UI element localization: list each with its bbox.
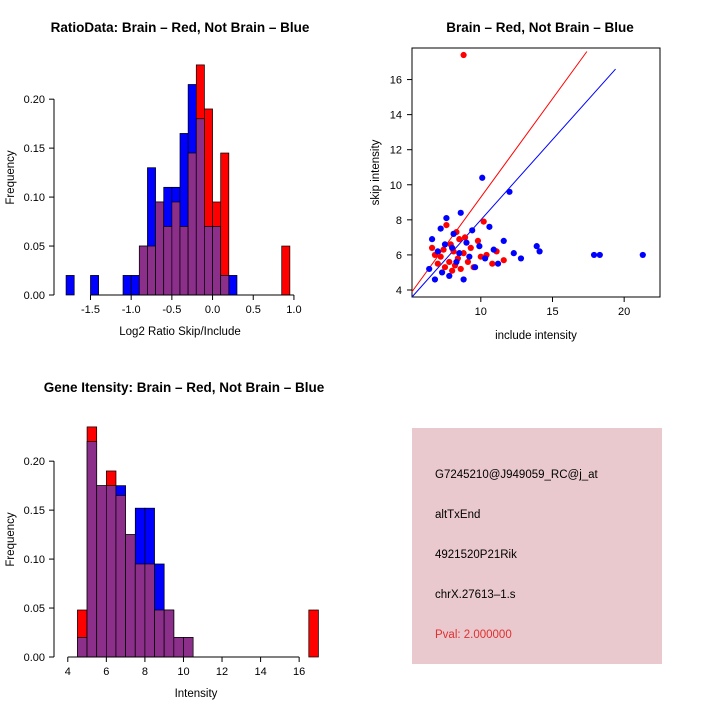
svg-text:0.05: 0.05 — [24, 603, 45, 615]
svg-text:0.15: 0.15 — [24, 143, 45, 155]
svg-text:10: 10 — [475, 306, 487, 318]
svg-text:0.20: 0.20 — [24, 94, 45, 106]
svg-text:16: 16 — [390, 75, 402, 87]
info-event-type: altTxEnd — [435, 509, 480, 521]
svg-text:16: 16 — [293, 666, 305, 678]
svg-text:14: 14 — [254, 666, 266, 678]
svg-text:-1.5: -1.5 — [81, 304, 100, 316]
svg-text:Frequency: Frequency — [5, 512, 17, 567]
svg-text:0.0: 0.0 — [205, 304, 220, 316]
panel-gene-title: Gene Itensity: Brain – Red, Not Brain – … — [4, 380, 364, 395]
svg-text:8: 8 — [396, 215, 402, 227]
svg-text:0.15: 0.15 — [24, 505, 45, 517]
panel-scatter: Brain – Red, Not Brain – Blue 1015204681… — [360, 0, 720, 360]
svg-text:8: 8 — [142, 666, 148, 678]
svg-text:-1.0: -1.0 — [122, 304, 141, 316]
figure-canvas: RatioData: Brain – Red, Not Brain – Blue… — [0, 0, 720, 720]
panel-scatter-title: Brain – Red, Not Brain – Blue — [360, 20, 720, 35]
svg-text:0.00: 0.00 — [24, 652, 45, 664]
info-box: G7245210@J949059_RC@j_at altTxEnd 492152… — [412, 428, 662, 664]
svg-text:0.05: 0.05 — [24, 241, 45, 253]
svg-text:0.20: 0.20 — [24, 456, 45, 468]
svg-text:0.10: 0.10 — [24, 554, 45, 566]
gene-histogram-plot: 468101214160.000.050.100.150.20Intensity… — [0, 360, 380, 720]
svg-text:20: 20 — [618, 306, 630, 318]
svg-text:0.5: 0.5 — [246, 304, 261, 316]
svg-text:0.10: 0.10 — [24, 192, 45, 204]
svg-text:14: 14 — [390, 110, 402, 122]
svg-text:6: 6 — [103, 666, 109, 678]
info-gene-symbol: 4921520P21Rik — [435, 549, 517, 561]
svg-text:4: 4 — [65, 666, 71, 678]
info-pval: Pval: 2.000000 — [435, 629, 512, 641]
svg-text:4: 4 — [396, 285, 402, 297]
svg-text:10: 10 — [390, 180, 402, 192]
svg-text:-0.5: -0.5 — [162, 304, 181, 316]
ratio-histogram-plot: -1.5-1.0-0.50.00.51.00.000.050.100.150.2… — [0, 0, 360, 360]
panel-ratio-histogram: RatioData: Brain – Red, Not Brain – Blue… — [0, 0, 360, 360]
panel-gene-histogram: Gene Itensity: Brain – Red, Not Brain – … — [0, 360, 380, 720]
svg-text:10: 10 — [177, 666, 189, 678]
scatter-plot: 10152046810121416include intensityskip i… — [360, 0, 720, 360]
svg-text:1.0: 1.0 — [286, 304, 301, 316]
panel-ratio-title: RatioData: Brain – Red, Not Brain – Blue — [0, 20, 360, 35]
svg-text:include intensity: include intensity — [495, 330, 577, 342]
svg-text:12: 12 — [216, 666, 228, 678]
svg-text:6: 6 — [396, 250, 402, 262]
svg-text:Log2 Ratio Skip/Include: Log2 Ratio Skip/Include — [119, 326, 240, 338]
svg-text:15: 15 — [546, 306, 558, 318]
info-probeset-id: G7245210@J949059_RC@j_at — [435, 469, 598, 481]
info-coordinates: chrX.27613–1.s — [435, 589, 516, 601]
svg-text:0.00: 0.00 — [24, 290, 45, 302]
svg-text:Intensity: Intensity — [175, 688, 218, 700]
svg-text:12: 12 — [390, 145, 402, 157]
svg-text:Frequency: Frequency — [5, 150, 17, 205]
svg-text:skip intensity: skip intensity — [370, 139, 382, 205]
